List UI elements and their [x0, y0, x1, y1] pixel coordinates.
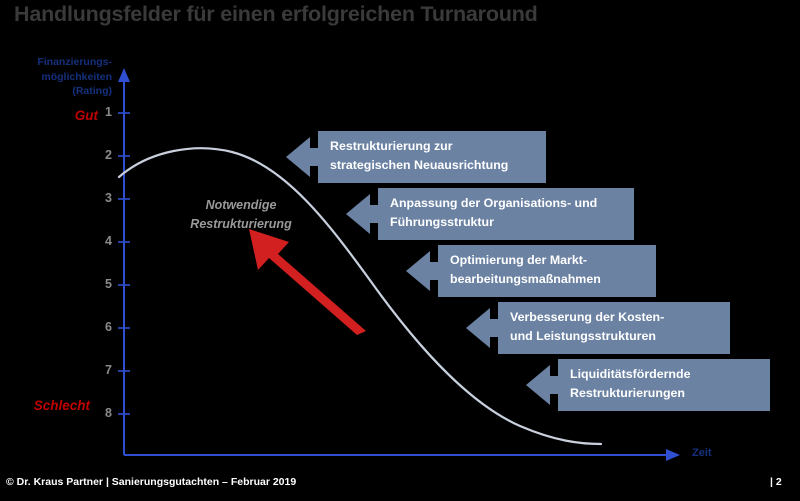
callout-arrow-2	[346, 194, 382, 234]
callout-arrow-3	[406, 251, 442, 291]
callout-arrow-5	[526, 365, 562, 405]
callout-arrows	[0, 0, 800, 501]
footer-copyright: © Dr. Kraus Partner | Sanierungsgutachte…	[6, 476, 296, 488]
callout-box-3[interactable]: Optimierung der Markt- bearbeitungsmaßna…	[438, 245, 656, 297]
callout-box-5[interactable]: Liquiditätsfördernde Restrukturierungen	[558, 359, 770, 411]
footer-page-number: | 2	[770, 476, 782, 488]
callout-box-1[interactable]: Restrukturierung zur strategischen Neuau…	[318, 131, 546, 183]
slide-canvas: Handlungsfelder für einen erfolgreichen …	[0, 0, 800, 501]
callout-arrow-1	[286, 137, 322, 177]
callout-arrow-4	[466, 308, 502, 348]
callout-box-4[interactable]: Verbesserung der Kosten- und Leistungsst…	[498, 302, 730, 354]
callout-box-2[interactable]: Anpassung der Organisations- und Führung…	[378, 188, 634, 240]
